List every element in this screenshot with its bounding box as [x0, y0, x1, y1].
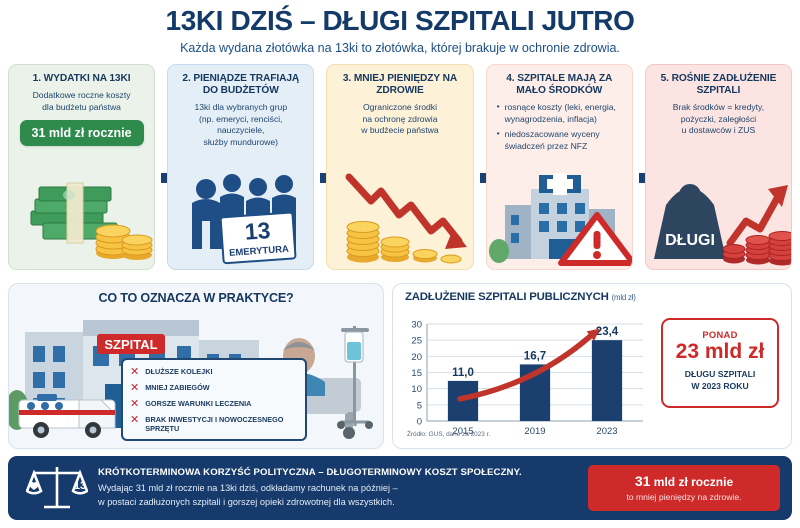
steps-row: 1. WYDATKI NA 13KI Dodatkowe roczne kosz… — [8, 64, 792, 270]
svg-text:10: 10 — [411, 384, 422, 395]
step-4-body: rosnące koszty (leki, energia, wynagrodz… — [494, 102, 625, 155]
step-4-bullet-1: rosnące koszty (leki, energia, wynagrodz… — [497, 102, 625, 125]
debt-callout: PONAD 23 mld zł DŁUGU SZPITALI W 2023 RO… — [661, 318, 779, 408]
x-mark-icon: ✕ — [130, 399, 139, 410]
arrow-gap-3 — [474, 64, 486, 270]
chart-unit-label: (mld zł) — [612, 293, 636, 302]
step-card-2: 2. PIENIĄDZE TRAFIAJĄ DO BUDŻETÓW 13ki d… — [167, 64, 314, 270]
step-1-line-2: dla budżetu państwa — [33, 102, 131, 113]
step-5-line-2: pożyczki, zaległości — [673, 114, 764, 125]
step-2-body: 13ki dla wybranych grup (np. emeryci, re… — [175, 102, 306, 147]
footer-bar: 13 KRÓTKOTERMINOWA KORZYŚĆ POLITYCZNA – … — [8, 456, 792, 520]
callout-amount: 23 mld zł — [663, 341, 777, 362]
x-mark-icon: ✕ — [130, 367, 139, 378]
footer-badge-unit: mld zł rocznie — [654, 475, 733, 489]
svg-text:13: 13 — [244, 217, 271, 245]
step-3-body: Ograniczone środki na ochronę zdrowia w … — [361, 102, 438, 136]
infographic-page: 13KI DZIŚ – DŁUGI SZPITALI JUTRO Każda w… — [0, 0, 800, 528]
cost-badge: 31 mld zł rocznie — [20, 120, 144, 146]
list-item-label: GORSZE WARUNKI LECZENIA — [145, 399, 251, 408]
money-stacks-icon — [9, 159, 154, 269]
hospital-scene: SZPITAL — [9, 306, 384, 449]
chart-title: ZADŁUŻENIE SZPITALI PUBLICZNYCH (mld zł) — [393, 284, 791, 303]
declining-trend-icon — [327, 159, 472, 269]
page-subtitle: Każda wydana złotówka na 13ki to złotówk… — [0, 41, 800, 55]
footer-badge: 31 mld zł rocznie to mniej pieniędzy na … — [588, 465, 780, 511]
step-3-title: 3. MNIEJ PIENIĘDZY NA ZDROWIE — [334, 73, 465, 97]
scales-of-justice-icon: 13 — [20, 463, 94, 513]
callout-ponad: PONAD — [663, 329, 777, 340]
svg-text:DŁUGI: DŁUGI — [665, 232, 715, 249]
step-card-4: 4. SZPITALE MAJĄ ZA MAŁO ŚRODKÓW rosnące… — [486, 64, 633, 270]
hospital-warning-icon — [487, 159, 632, 269]
svg-text:15: 15 — [411, 368, 422, 379]
svg-text:30: 30 — [411, 320, 422, 331]
svg-text:16,7: 16,7 — [524, 350, 546, 362]
debt-weight-icon: DŁUGI — [646, 159, 791, 269]
svg-text:2023: 2023 — [596, 426, 617, 437]
list-item: ✕ BRAK INWESTYCJI I NOWOCZESNEGO SPRZĘTU — [130, 415, 298, 433]
list-item: ✕ MNIEJ ZABIEGÓW — [130, 383, 298, 394]
step-2-title: 2. PIENIĄDZE TRAFIAJĄ DO BUDŻETÓW — [175, 73, 306, 97]
x-mark-icon: ✕ — [130, 383, 139, 394]
list-item: ✕ DŁUŻSZE KOLEJKI — [130, 367, 298, 378]
arrow-gap-1 — [155, 64, 167, 270]
footer-line-2: w postaci zadłużonych szpitali i gorszej… — [98, 496, 588, 509]
callout-line-1: DŁUGU SZPITALI — [663, 369, 777, 379]
svg-text:2019: 2019 — [524, 426, 545, 437]
list-item-label: DŁUŻSZE KOLEJKI — [145, 367, 212, 376]
chart-panel: ZADŁUŻENIE SZPITALI PUBLICZNYCH (mld zł)… — [392, 283, 792, 449]
step-5-line-1: Brak środków = kredyty, — [673, 102, 764, 113]
svg-text:SZPITAL: SZPITAL — [104, 337, 157, 352]
step-card-5: 5. ROŚNIE ZADŁUŻENIE SZPITALI Brak środk… — [645, 64, 792, 270]
x-mark-icon: ✕ — [130, 415, 139, 426]
header: 13KI DZIŚ – DŁUGI SZPITALI JUTRO Każda w… — [0, 0, 800, 55]
step-5-title: 5. ROŚNIE ZADŁUŻENIE SZPITALI — [653, 73, 784, 97]
step-4-title: 4. SZPITALE MAJĄ ZA MAŁO ŚRODKÓW — [494, 73, 625, 97]
footer-text: KRÓTKOTERMINOWA KORZYŚĆ POLITYCZNA – DŁU… — [94, 467, 588, 508]
footer-badge-number: 31 — [635, 473, 651, 489]
svg-text:0: 0 — [417, 417, 422, 428]
list-item: ✕ GORSZE WARUNKI LECZENIA — [130, 399, 298, 410]
step-1-line-1: Dodatkowe roczne koszty — [33, 90, 131, 101]
footer-badge-note: to mniej pieniędzy na zdrowie. — [626, 492, 741, 502]
bar-chart: 05101520253011,0201516,7201923,42023 — [401, 310, 651, 445]
svg-text:25: 25 — [411, 336, 422, 347]
svg-text:11,0: 11,0 — [452, 367, 474, 379]
svg-text:5: 5 — [417, 400, 422, 411]
step-5-line-3: u dostawców i ZUS — [673, 125, 764, 136]
step-3-line-2: na ochronę zdrowia — [361, 114, 438, 125]
arrow-gap-4 — [633, 64, 645, 270]
callout-line-2: W 2023 ROKU — [663, 381, 777, 391]
step-3-line-3: w budżecie państwa — [361, 125, 438, 136]
step-card-1: 1. WYDATKI NA 13KI Dodatkowe roczne kosz… — [8, 64, 155, 270]
step-2-line-1: 13ki dla wybranych grup — [175, 102, 306, 113]
footer-badge-amount: 31 mld zł rocznie — [635, 474, 733, 488]
svg-text:23,4: 23,4 — [596, 326, 619, 338]
list-item-label: MNIEJ ZABIEGÓW — [145, 383, 209, 392]
step-3-line-1: Ograniczone środki — [361, 102, 438, 113]
list-item-label: BRAK INWESTYCJI I NOWOCZESNEGO SPRZĘTU — [145, 415, 298, 433]
consequences-list: ✕ DŁUŻSZE KOLEJKI ✕ MNIEJ ZABIEGÓW ✕ GOR… — [121, 358, 307, 441]
step-1-title: 1. WYDATKI NA 13KI — [33, 73, 131, 85]
svg-text:13: 13 — [74, 480, 86, 492]
step-1-body: Dodatkowe roczne koszty dla budżetu pańs… — [33, 90, 131, 113]
step-2-line-3: służby mundurowe) — [175, 137, 306, 148]
footer-headline: KRÓTKOTERMINOWA KORZYŚĆ POLITYCZNA – DŁU… — [98, 467, 588, 478]
practice-panel: CO TO OZNACZA W PRAKTYCE? — [8, 283, 384, 449]
page-title: 13KI DZIŚ – DŁUGI SZPITALI JUTRO — [0, 6, 800, 35]
step-5-body: Brak środków = kredyty, pożyczki, zaległ… — [673, 102, 764, 136]
footer-line-1: Wydając 31 mld zł rocznie na 13ki dziś, … — [98, 482, 588, 495]
step-card-3: 3. MNIEJ PIENIĘDZY NA ZDROWIE Ograniczon… — [326, 64, 473, 270]
people-group-icon: 13 EMERYTURA — [168, 159, 313, 269]
chart-title-text: ZADŁUŻENIE SZPITALI PUBLICZNYCH — [405, 291, 609, 303]
chart-source: Źródło: GUS, dane za 2023 r. — [407, 431, 490, 438]
arrow-gap-2 — [314, 64, 326, 270]
step-2-line-2: (np. emeryci, renciści, nauczyciele, — [175, 114, 306, 137]
svg-text:20: 20 — [411, 352, 422, 363]
practice-title: CO TO OZNACZA W PRAKTYCE? — [9, 284, 383, 305]
step-4-bullet-2: niedoszacowane wyceny świadczeń przez NF… — [497, 129, 625, 152]
